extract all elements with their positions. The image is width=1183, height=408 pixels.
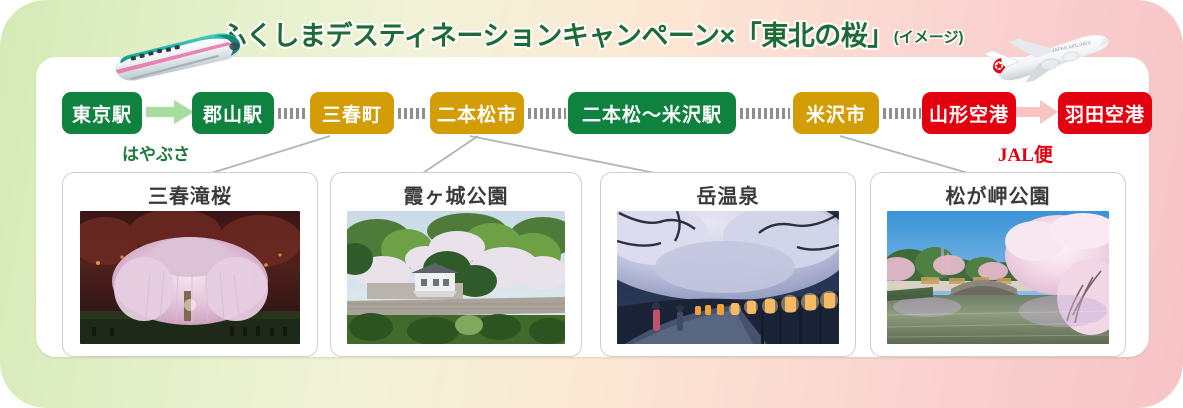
- route-node-label: 三春町: [322, 100, 382, 127]
- photo-image-moat-cherry-bridge: [887, 211, 1109, 344]
- photo-card-dake-onsen[interactable]: 岳温泉: [600, 172, 856, 357]
- connector-miharu-nihonmatsu: [398, 108, 428, 119]
- photo-image-night-weeping-cherry: [80, 211, 300, 344]
- photo-card-title: 松が岬公園: [871, 180, 1125, 209]
- route-node-miharu-town[interactable]: 三春町: [310, 92, 394, 134]
- photo-card-title: 霞ヶ城公園: [331, 180, 581, 209]
- pink-arrow-icon: [1016, 99, 1060, 125]
- jal-airplane-icon: JAPAN AIRLINES: [978, 28, 1120, 84]
- photo-card-matsugamisaki-park[interactable]: 松が岬公園: [870, 172, 1126, 357]
- route-node-label: 米沢市: [806, 100, 866, 127]
- route-node-nihonmatsu-yonezawa[interactable]: 二本松〜米沢駅: [568, 92, 736, 134]
- route-node-label: 山形空港: [929, 100, 1009, 127]
- route-node-label: 羽田空港: [1065, 100, 1145, 127]
- route-note-jal: JAL便: [998, 140, 1053, 167]
- photo-image-castle-park-cherry: [347, 211, 565, 344]
- photo-card-kasumigajo-park[interactable]: 霞ヶ城公園: [330, 172, 582, 357]
- connector-nihonmatsu-yonezawa-line: [528, 108, 566, 119]
- route-node-yonezawa-city[interactable]: 米沢市: [793, 92, 879, 134]
- green-arrow-icon: [146, 99, 196, 125]
- route-note-hayabusa: はやぶさ: [122, 140, 190, 165]
- photo-card-miharu-takizakura[interactable]: 三春滝桜: [62, 172, 318, 357]
- route-node-yamagata-airport[interactable]: 山形空港: [922, 92, 1016, 134]
- route-node-label: 二本松〜米沢駅: [582, 100, 722, 127]
- route-node-label: 二本松市: [437, 100, 517, 127]
- route-node-haneda-airport[interactable]: 羽田空港: [1058, 92, 1152, 134]
- shinkansen-icon: [98, 30, 248, 82]
- route-node-label: 郡山駅: [203, 100, 263, 127]
- photo-image-lantern-cherry-tunnel: [617, 211, 839, 344]
- page-title-suffix: (イメージ): [894, 26, 964, 47]
- photo-card-title: 三春滝桜: [63, 180, 317, 209]
- photo-card-title: 岳温泉: [601, 180, 855, 209]
- route-node-label: 東京駅: [72, 100, 132, 127]
- page-title-main: ふくしまデスティネーションキャンペーン×「東北の桜」: [220, 14, 894, 53]
- route-node-tokyo-station[interactable]: 東京駅: [62, 92, 142, 134]
- route-node-nihonmatsu-city[interactable]: 二本松市: [430, 92, 524, 134]
- connector-yonezawa-yamagata-airport: [883, 108, 921, 119]
- route-node-koriyama-station[interactable]: 郡山駅: [192, 92, 274, 134]
- connector-koriyama-miharu: [278, 108, 308, 119]
- connector-yonezawa-line-city: [740, 108, 790, 119]
